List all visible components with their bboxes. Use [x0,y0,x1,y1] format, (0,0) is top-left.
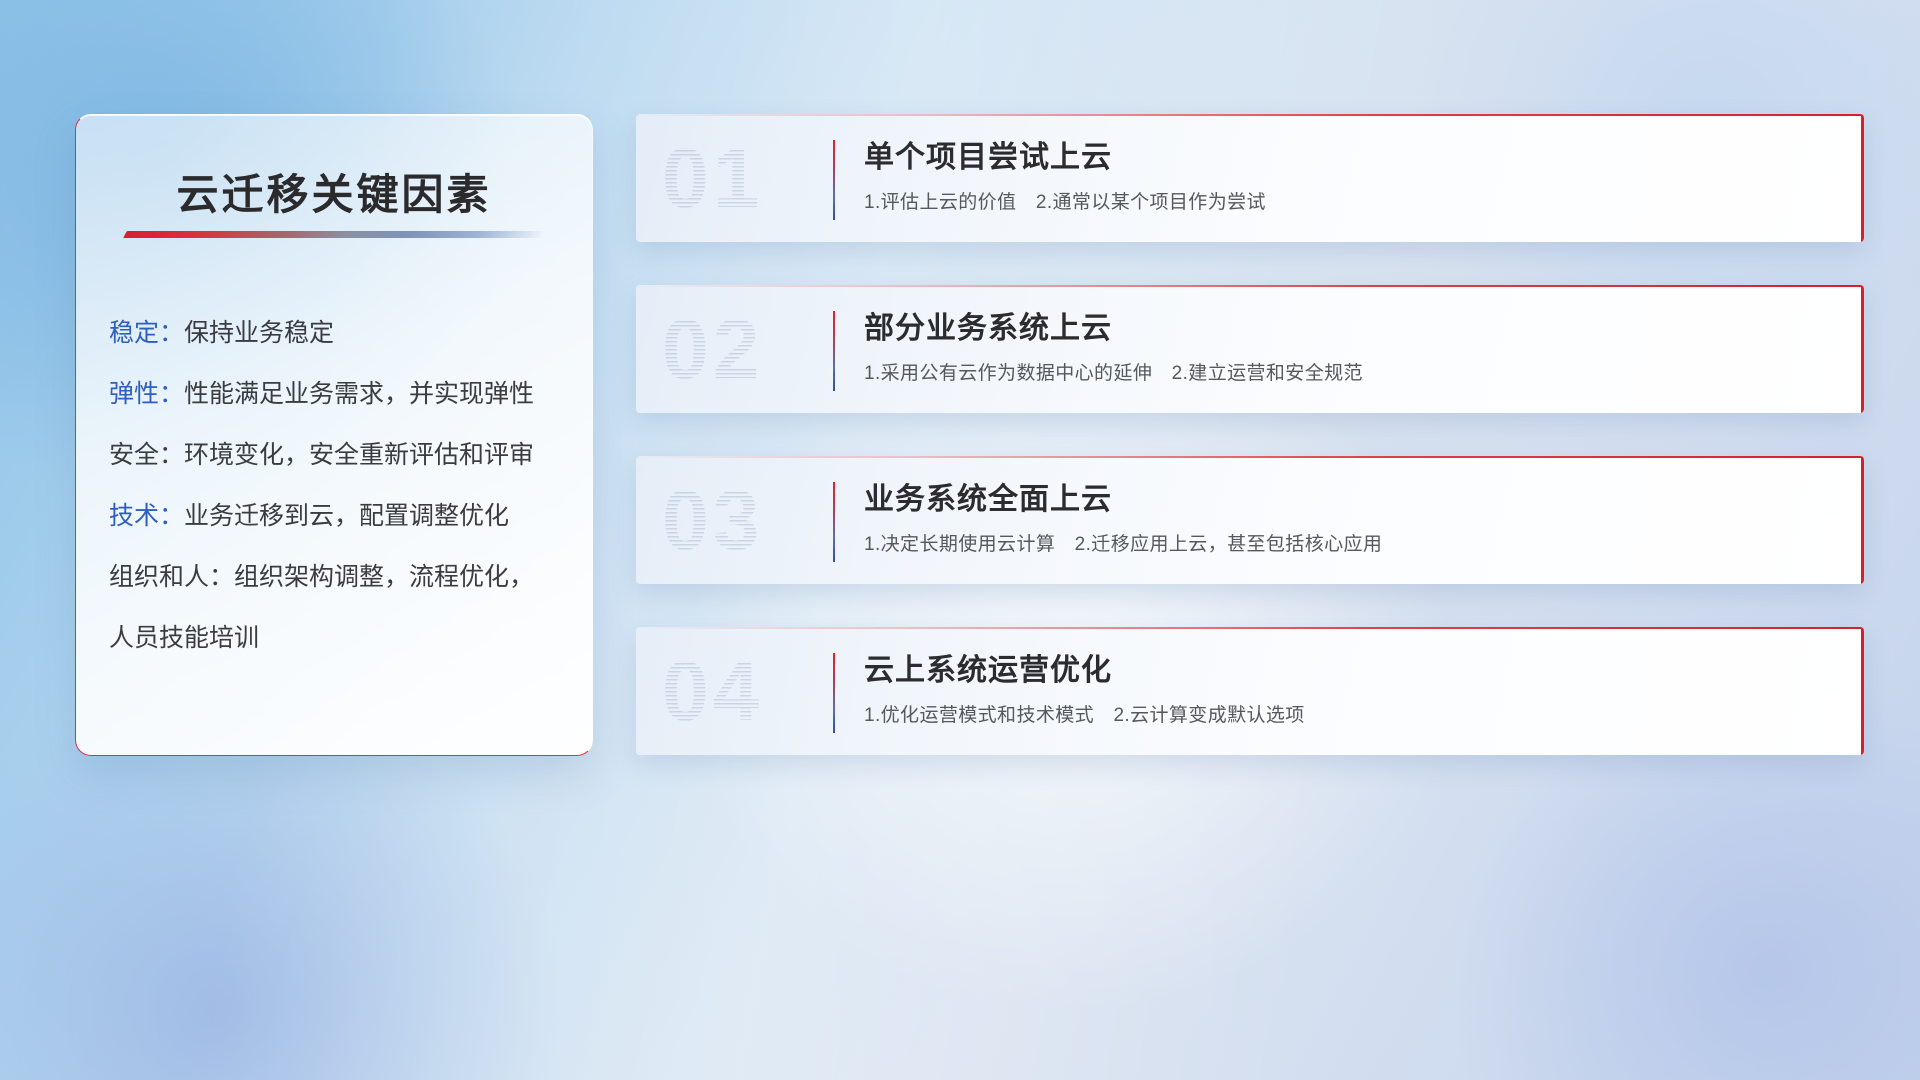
factor-value: 性能满足业务需求，并实现弹性 [184,380,534,408]
factor-value: 保持业务稳定 [184,319,334,347]
step-card-03[interactable]: 03 业务系统全面上云 1.决定长期使用云计算 2.迁移应用上云，甚至包括核心应… [636,456,1864,584]
step-divider-line [833,311,835,391]
key-factors-list: 稳定：保持业务稳定 弹性：性能满足业务需求，并实现弹性 安全：环境变化，安全重新… [109,303,572,669]
step-title: 业务系统全面上云 [864,480,1824,520]
step-card-02[interactable]: 02 部分业务系统上云 1.采用公有云作为数据中心的延伸 2.建立运营和安全规范 [636,285,1864,413]
step-body: 单个项目尝试上云 1.评估上云的价值 2.通常以某个项目作为尝试 [864,138,1824,216]
factor-value: 环境变化，安全重新评估和评审 [184,441,534,469]
factor-value: 业务迁移到云，配置调整优化 [184,502,509,530]
step-card-04[interactable]: 04 云上系统运营优化 1.优化运营模式和技术模式 2.云计算变成默认选项 [636,627,1864,755]
step-title: 单个项目尝试上云 [864,138,1824,178]
step-title: 云上系统运营优化 [864,651,1824,691]
step-body: 云上系统运营优化 1.优化运营模式和技术模式 2.云计算变成默认选项 [864,651,1824,729]
step-number: 03 [662,472,822,568]
step-divider-line [833,482,835,562]
page-title: 云迁移关键因素 [76,161,592,222]
key-factors-panel: 云迁移关键因素 稳定：保持业务稳定 弹性：性能满足业务需求，并实现弹性 安全：环… [75,114,593,756]
factor-value: 组织架构调整，流程优化， [234,563,534,591]
step-number: 04 [662,643,822,739]
step-description: 1.采用公有云作为数据中心的延伸 2.建立运营和安全规范 [864,361,1824,387]
list-item: 组织和人：组织架构调整，流程优化， [109,547,572,608]
list-item: 弹性：性能满足业务需求，并实现弹性 [109,364,572,425]
step-number: 02 [662,301,822,397]
slide-stage: 云迁移关键因素 稳定：保持业务稳定 弹性：性能满足业务需求，并实现弹性 安全：环… [0,0,1920,1080]
list-item: 人员技能培训 [109,608,572,669]
step-description: 1.评估上云的价值 2.通常以某个项目作为尝试 [864,190,1824,216]
step-body: 业务系统全面上云 1.决定长期使用云计算 2.迁移应用上云，甚至包括核心应用 [864,480,1824,558]
title-underline-gradient [123,231,547,238]
factor-label: 安全： [109,441,184,469]
step-body: 部分业务系统上云 1.采用公有云作为数据中心的延伸 2.建立运营和安全规范 [864,309,1824,387]
step-divider-line [833,140,835,220]
list-item: 技术：业务迁移到云，配置调整优化 [109,486,572,547]
list-item: 安全：环境变化，安全重新评估和评审 [109,425,572,486]
step-title: 部分业务系统上云 [864,309,1824,349]
step-divider-line [833,653,835,733]
factor-label: 技术： [109,502,184,530]
factor-value: 人员技能培训 [109,624,259,652]
factor-label: 组织和人： [109,563,234,591]
step-number: 01 [662,130,822,226]
step-description: 1.决定长期使用云计算 2.迁移应用上云，甚至包括核心应用 [864,532,1824,558]
key-factors-panel-inner: 云迁移关键因素 稳定：保持业务稳定 弹性：性能满足业务需求，并实现弹性 安全：环… [76,115,592,755]
factor-label: 稳定： [109,319,184,347]
list-item: 稳定：保持业务稳定 [109,303,572,364]
step-card-01[interactable]: 01 单个项目尝试上云 1.评估上云的价值 2.通常以某个项目作为尝试 [636,114,1864,242]
factor-label: 弹性： [109,380,184,408]
step-description: 1.优化运营模式和技术模式 2.云计算变成默认选项 [864,703,1824,729]
